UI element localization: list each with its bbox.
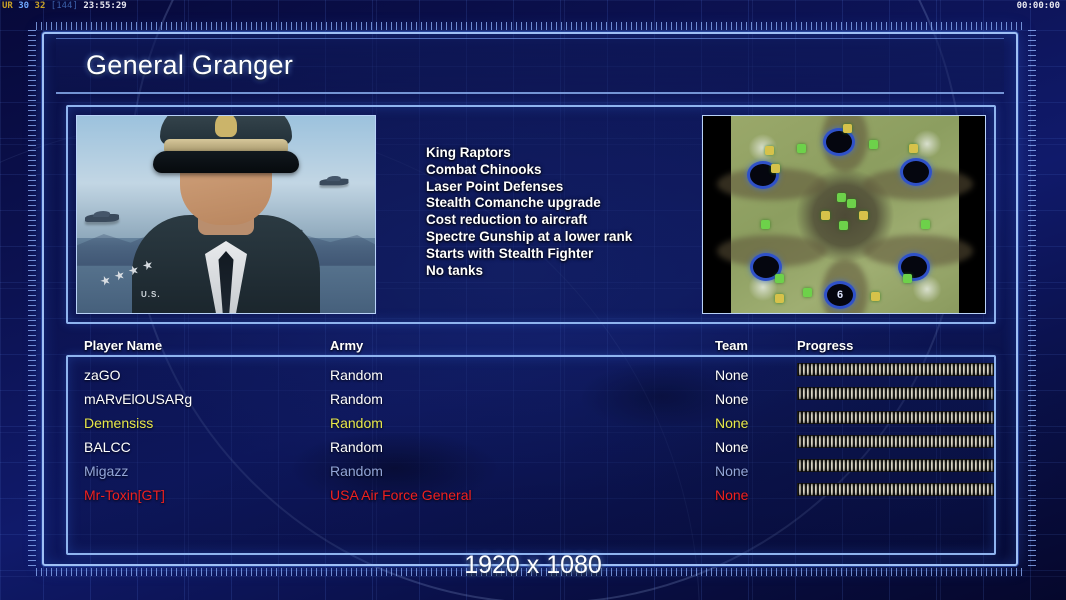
center-resource-cluster — [825, 193, 865, 239]
resource-node-icon — [859, 211, 868, 220]
perf-prefix: UR — [2, 1, 13, 11]
player-team[interactable]: None — [715, 483, 748, 507]
column-team: Team — [715, 338, 748, 353]
ability-item: Cost reduction to aircraft — [426, 212, 726, 229]
player-army[interactable]: Random — [330, 411, 383, 435]
perf-time: 23:55:29 — [83, 1, 126, 11]
game-lobby-screen: UR 30 32 [144] 23:55:29 00:00:00 General… — [0, 0, 1066, 600]
column-progress: Progress — [797, 338, 853, 353]
player-progress-bar — [797, 483, 994, 496]
resource-node-icon — [869, 140, 878, 149]
resource-node-icon — [921, 220, 930, 229]
resource-node-icon — [775, 294, 784, 303]
resolution-label: 1920 x 1080 — [0, 551, 1066, 580]
player-team[interactable]: None — [715, 435, 748, 459]
player-army[interactable]: Random — [330, 387, 383, 411]
resource-node-icon — [765, 146, 774, 155]
ability-item: Laser Point Defenses — [426, 179, 726, 196]
player-name: Demensiss — [84, 411, 153, 435]
resource-node-icon — [839, 221, 848, 230]
resource-node-icon — [843, 124, 852, 133]
ruler-right — [1028, 30, 1036, 570]
ability-list: King Raptors Combat Chinooks Laser Point… — [426, 145, 726, 279]
player-name: Mr-Toxin[GT] — [84, 483, 165, 507]
ability-item: Spectre Gunship at a lower rank — [426, 229, 726, 246]
ability-item: King Raptors — [426, 145, 726, 162]
player-team[interactable]: None — [715, 363, 748, 387]
player-table-header: Player Name Army Team Progress — [70, 338, 992, 356]
resource-node-icon — [871, 292, 880, 301]
player-progress-bar — [797, 435, 994, 448]
table-row[interactable]: BALCC Random None — [70, 435, 992, 459]
ruler-left — [28, 30, 36, 570]
player-team[interactable]: None — [715, 411, 748, 435]
minimap-terrain: 6 — [731, 116, 959, 314]
start-position[interactable] — [903, 161, 929, 183]
uniform-us-tab: U.S. — [141, 290, 161, 299]
officer-cap-brim — [153, 151, 299, 173]
ability-item: No tanks — [426, 263, 726, 280]
player-team[interactable]: None — [715, 387, 748, 411]
jet-icon — [85, 214, 119, 222]
jet-icon — [320, 179, 349, 186]
player-progress-bar — [797, 411, 994, 424]
player-name: Migazz — [84, 459, 128, 483]
resource-node-icon — [837, 193, 846, 202]
ruler-top — [36, 22, 1026, 30]
player-team[interactable]: None — [715, 459, 748, 483]
player-name: BALCC — [84, 435, 131, 459]
player-progress-bar — [797, 459, 994, 472]
player-army[interactable]: Random — [330, 363, 383, 387]
player-table-body: zaGO Random None mARvElOUSARg Random Non… — [70, 363, 992, 507]
resource-node-icon — [797, 144, 806, 153]
clock-readout: 00:00:00 — [1017, 1, 1060, 11]
resource-node-icon — [775, 274, 784, 283]
table-row[interactable]: Mr-Toxin[GT] USA Air Force General None — [70, 483, 992, 507]
page-title: General Granger — [86, 50, 293, 81]
star-icon — [141, 259, 154, 272]
player-army[interactable]: Random — [330, 459, 383, 483]
star-icon — [113, 269, 126, 282]
resource-node-icon — [909, 144, 918, 153]
player-army[interactable]: Random — [330, 435, 383, 459]
perf-value-a: 30 — [18, 1, 29, 11]
player-progress-bar — [797, 387, 994, 400]
minimap-preview[interactable]: 6 — [702, 115, 986, 314]
performance-overlay: UR 30 32 [144] 23:55:29 — [2, 1, 127, 11]
player-name: mARvElOUSARg — [84, 387, 192, 411]
player-name: zaGO — [84, 363, 121, 387]
general-info-panel: U.S. King Raptors Combat Chinooks Laser … — [66, 105, 996, 324]
star-icon — [127, 264, 140, 277]
start-position-selected[interactable]: 6 — [827, 284, 853, 306]
resource-node-icon — [903, 274, 912, 283]
resource-node-icon — [847, 199, 856, 208]
perf-value-b: 32 — [35, 1, 46, 11]
general-portrait: U.S. — [76, 115, 376, 314]
ability-item: Combat Chinooks — [426, 162, 726, 179]
table-row[interactable]: mARvElOUSARg Random None — [70, 387, 992, 411]
eagle-badge-icon — [215, 115, 237, 137]
table-row[interactable]: zaGO Random None — [70, 363, 992, 387]
resource-node-icon — [821, 211, 830, 220]
player-army[interactable]: USA Air Force General — [330, 483, 472, 507]
column-army: Army — [330, 338, 363, 353]
resource-node-icon — [761, 220, 770, 229]
ability-item: Starts with Stealth Fighter — [426, 246, 726, 263]
ability-item: Stealth Comanche upgrade — [426, 195, 726, 212]
table-row[interactable]: Migazz Random None — [70, 459, 992, 483]
start-position[interactable] — [826, 131, 852, 153]
title-bar: General Granger — [56, 38, 1004, 94]
resource-node-icon — [803, 288, 812, 297]
star-icon — [99, 274, 112, 287]
resource-node-icon — [771, 164, 780, 173]
player-progress-bar — [797, 363, 994, 376]
column-player-name: Player Name — [84, 338, 162, 353]
perf-frames: [144] — [51, 1, 78, 11]
table-row[interactable]: Demensiss Random None — [70, 411, 992, 435]
